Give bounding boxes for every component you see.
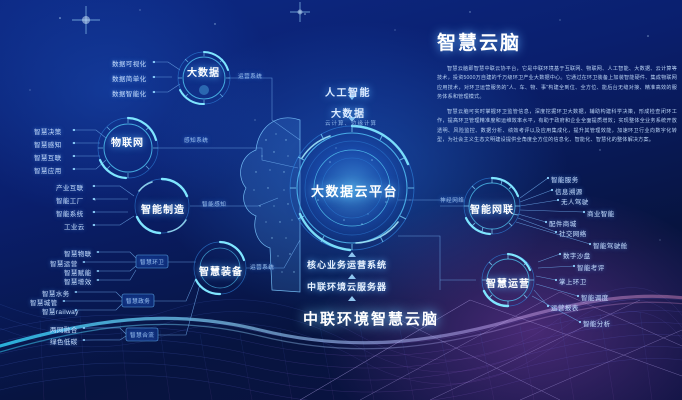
leaf-connected-6: 智能驾驶舱	[593, 240, 628, 250]
node-label-big-data: 大数据	[187, 64, 220, 79]
leaf-connected-1: 信息溯源	[555, 186, 583, 196]
leaf-equip-g2-1: 绿色低碳	[50, 336, 78, 346]
leaf-equip-g0-0: 智慧物联	[64, 248, 92, 258]
subhub-label-2: 智慧合流	[130, 331, 154, 339]
leaf-operation-5: 智能分析	[583, 318, 611, 328]
edge-label-smart-manufacturing: 智能感知	[202, 200, 226, 208]
leaf-operation-4: 运营报表	[551, 302, 579, 312]
leaf-operation-3: 智能调度	[581, 292, 609, 302]
leaf-iot-1: 智慧感知	[34, 139, 62, 149]
edge-label-big-data: 运营系统	[238, 72, 262, 80]
leaf-iot-0: 智慧决策	[34, 126, 62, 136]
leaf-manufacturing-1: 智能工厂	[56, 195, 84, 205]
description-panel: 智慧云脑 智慧云脑即智慧中联云协平台，它是中联环境基于互联网、物联网、人工智能、…	[437, 28, 677, 150]
leaf-connected-5: 社交网络	[559, 228, 587, 238]
subhub-label-0: 智慧环卫	[140, 258, 164, 266]
hub-center-label: 大数据云平台	[311, 181, 398, 200]
edge-label-iot: 感知系统	[184, 136, 208, 144]
node-label-smart-manufacturing: 智能制造	[141, 201, 185, 216]
leaf-iot-2: 智慧互联	[34, 152, 62, 162]
leaf-connected-0: 智能服务	[551, 174, 579, 184]
leaf-big-data-1: 数据简单化	[112, 73, 147, 83]
leaf-manufacturing-2: 智能系统	[56, 208, 84, 218]
leaf-operation-2: 掌上环卫	[559, 276, 587, 286]
hub-top-sublabel: 云计算、边缘计算	[325, 119, 377, 127]
leaf-big-data-2: 数据智能化	[112, 88, 147, 98]
node-label-smart-equipment: 智慧装备	[199, 263, 243, 278]
hub-top-label-ai: 人工智能	[325, 84, 371, 99]
node-label-iot: 物联网	[111, 134, 144, 149]
leaf-equip-g1-2: 智慧railway	[42, 306, 79, 316]
infographic-canvas: 大数据云平台 人工智能 大数据 云计算、边缘计算 核心业务运营系统 中联环境云服…	[0, 0, 682, 400]
leaf-equip-g2-0: 两网融合	[50, 324, 78, 334]
leaf-operation-0: 数字沙盘	[563, 250, 591, 260]
hub-stack-cloud-server: 中联环境云服务器	[307, 280, 387, 293]
description-paragraph-2: 智慧云脑可实时掌握环卫监管信息，深度挖掘环卫大数据，辅助构建科学决策，形成检查闭…	[437, 108, 677, 146]
leaf-operation-1: 智能考评	[577, 262, 605, 272]
hub-stack-core-system: 核心业务运营系统	[307, 258, 387, 271]
leaf-iot-3: 智慧应用	[34, 165, 62, 175]
hub-top-label-bigdata: 大数据	[331, 105, 366, 120]
subhub-label-1: 智慧政务	[126, 297, 150, 305]
leaf-equip-g0-3: 智慧增效	[64, 276, 92, 286]
edge-label-smart-equipment: 运营系统	[250, 263, 274, 271]
page-title: 智慧云脑	[437, 28, 677, 55]
leaf-connected-4: 配件商城	[549, 218, 577, 228]
leaf-manufacturing-0: 产业互联	[56, 182, 84, 192]
leaf-big-data-0: 数据可视化	[112, 58, 147, 68]
hub-bottom-title: 中联环境智慧云脑	[303, 308, 439, 329]
edge-label-smart-connected: 神经网络	[440, 196, 464, 204]
description-paragraph-1: 智慧云脑即智慧中联云协平台，它是中联环境基于互联网、物联网、人工智能、大数据、云…	[437, 65, 677, 103]
leaf-connected-2: 无人驾驶	[561, 196, 589, 206]
leaf-connected-3: 商业智能	[587, 208, 615, 218]
leaf-manufacturing-3: 工业云	[64, 221, 85, 231]
node-label-smart-connected: 智能网联	[470, 201, 514, 216]
node-label-smart-operation: 智慧运营	[486, 275, 530, 290]
